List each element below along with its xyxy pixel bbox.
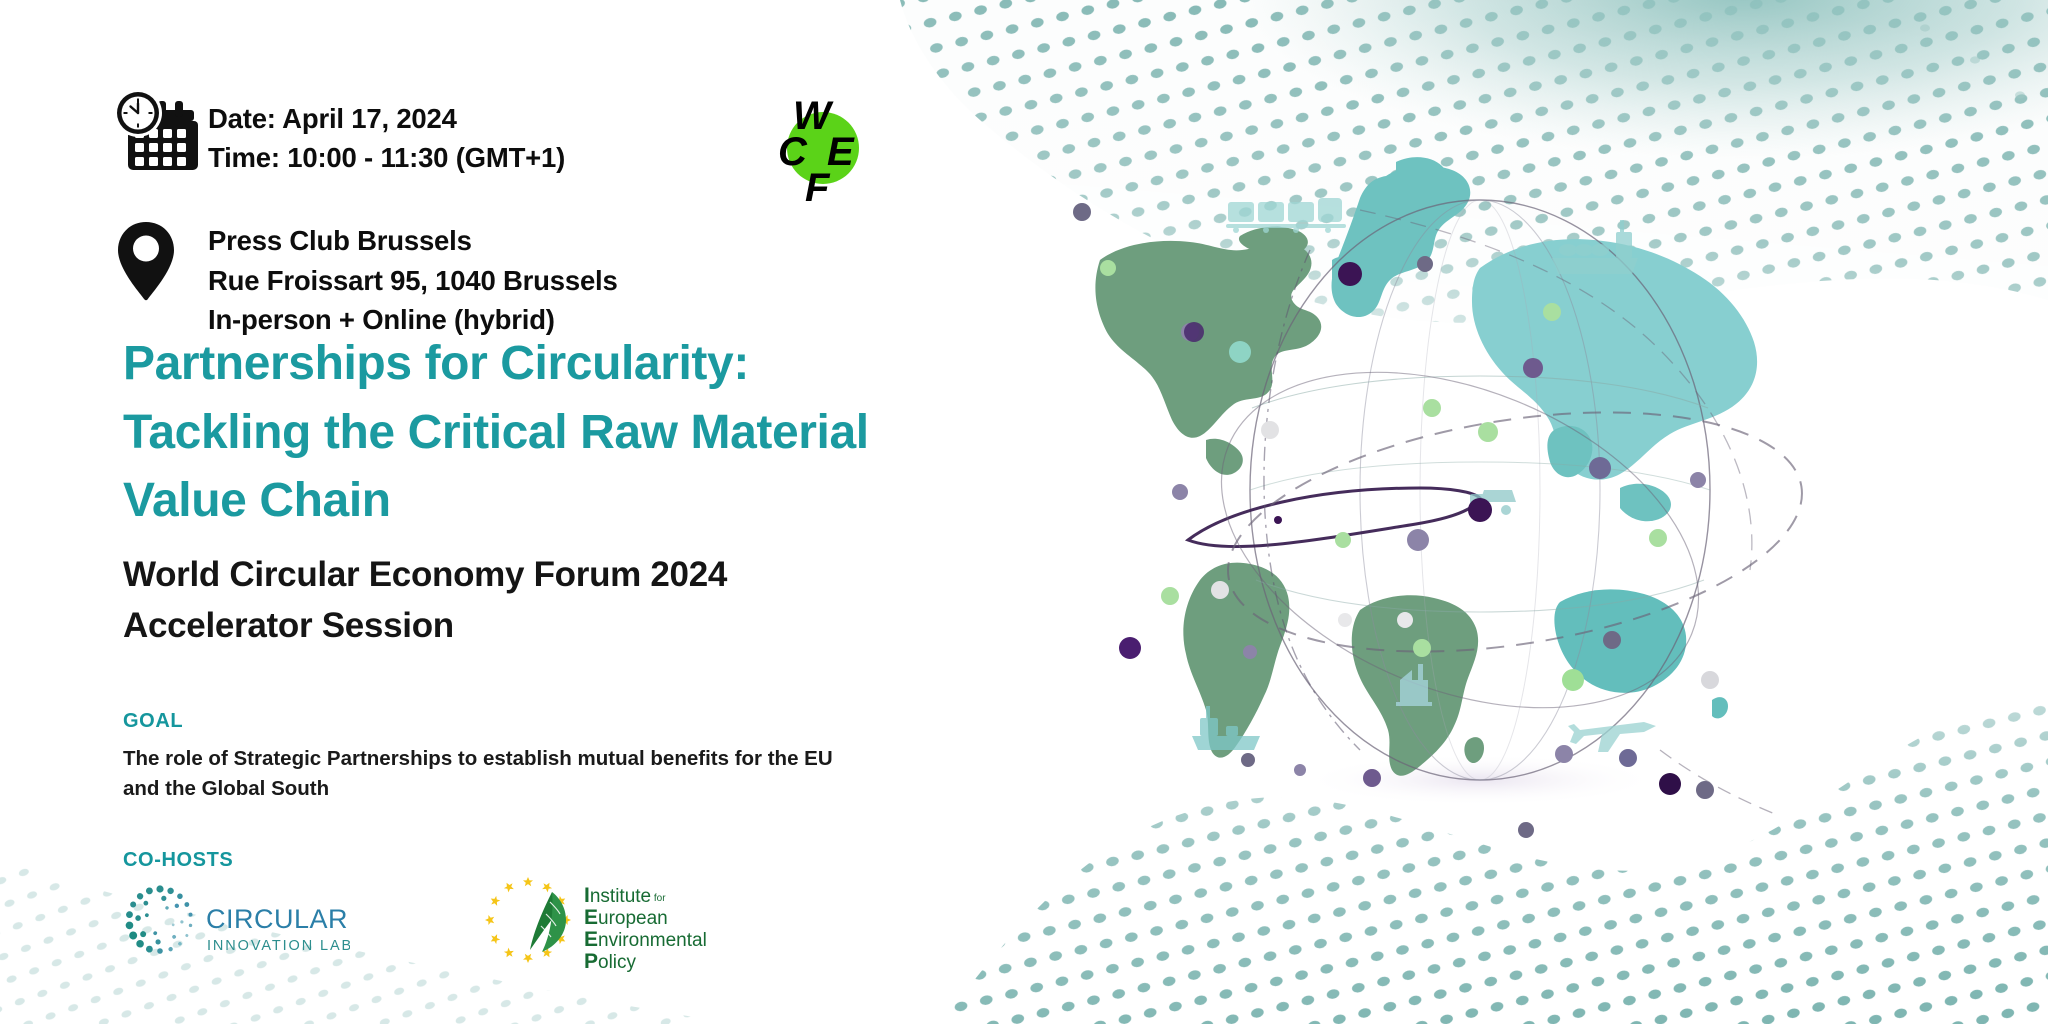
date-line: Date: April 17, 2024 <box>208 99 565 138</box>
cil-dotted-circle <box>125 885 193 953</box>
wcef-letter-f: F <box>805 166 831 208</box>
wcef-letter-e: E <box>827 130 855 174</box>
cargo-ship-icon <box>1552 220 1638 274</box>
goal-line-2: and the Global South <box>123 774 943 804</box>
subtitle-line-1: World Circular Economy Forum 2024 <box>123 550 1053 601</box>
continent-north-america <box>1095 241 1321 438</box>
title-line-3: Value Chain <box>123 467 1053 536</box>
cil-word-main: CIRCULAR <box>206 904 348 934</box>
subtitle-line-2: Accelerator Session <box>123 601 1053 652</box>
page-title: Partnerships for Circularity: Tackling t… <box>123 330 1053 536</box>
ieep-line-2: European <box>584 906 668 929</box>
globe-graphic <box>1060 140 1940 840</box>
title-line-2: Tackling the Critical Raw Material <box>123 399 1053 468</box>
cohosts-label: CO-HOSTS <box>123 849 233 872</box>
goal-text: The role of Strategic Partnerships to es… <box>123 744 943 803</box>
location-text: Press Club Brussels Rue Froissart 95, 10… <box>208 217 618 340</box>
goal-line-1: The role of Strategic Partnerships to es… <box>123 744 943 774</box>
globe-illustration-svg <box>1060 140 1940 840</box>
continent-southeast-asia <box>1620 484 1671 522</box>
map-pin-icon <box>110 217 208 305</box>
goal-label: GOAL <box>123 710 183 733</box>
calendar-clock-icon <box>110 88 208 174</box>
venue-name: Press Club Brussels <box>208 221 618 261</box>
cil-word-sub: INNOVATION LAB <box>207 938 350 954</box>
date-time-block: Date: April 17, 2024 Time: 10:00 - 11:30… <box>110 88 565 177</box>
orbit-dashed-wide <box>1211 376 1819 688</box>
wcef-letter-c: C <box>778 130 808 174</box>
wcef-logo: W C E F <box>765 93 895 208</box>
title-line-1: Partnerships for Circularity: <box>123 330 1053 399</box>
content-column: Date: April 17, 2024 Time: 10:00 - 11:30… <box>110 0 1030 1024</box>
page-subtitle: World Circular Economy Forum 2024 Accele… <box>123 550 1053 652</box>
train-icon <box>1226 198 1346 233</box>
venue-address: Rue Froissart 95, 1040 Brussels <box>208 261 618 301</box>
ieep-line-1: Institute for <box>584 884 666 907</box>
corner-accent-dots <box>1920 24 2025 98</box>
continent-new-zealand <box>1712 697 1728 718</box>
location-block: Press Club Brussels Rue Froissart 95, 10… <box>110 217 618 340</box>
airplane-icon <box>1568 722 1656 752</box>
ieep-logo: Institute for European Environmental Pol… <box>480 872 730 972</box>
circular-innovation-lab-logo: CIRCULAR INNOVATION LAB <box>120 880 350 962</box>
ieep-line-4: Policy <box>584 950 637 972</box>
date-time-text: Date: April 17, 2024 Time: 10:00 - 11:30… <box>208 88 565 177</box>
continent-asia <box>1472 239 1757 480</box>
ieep-line-3: Environmental <box>584 928 707 951</box>
time-line: Time: 10:00 - 11:30 (GMT+1) <box>208 138 565 177</box>
orbit-purple-band <box>1188 488 1480 547</box>
